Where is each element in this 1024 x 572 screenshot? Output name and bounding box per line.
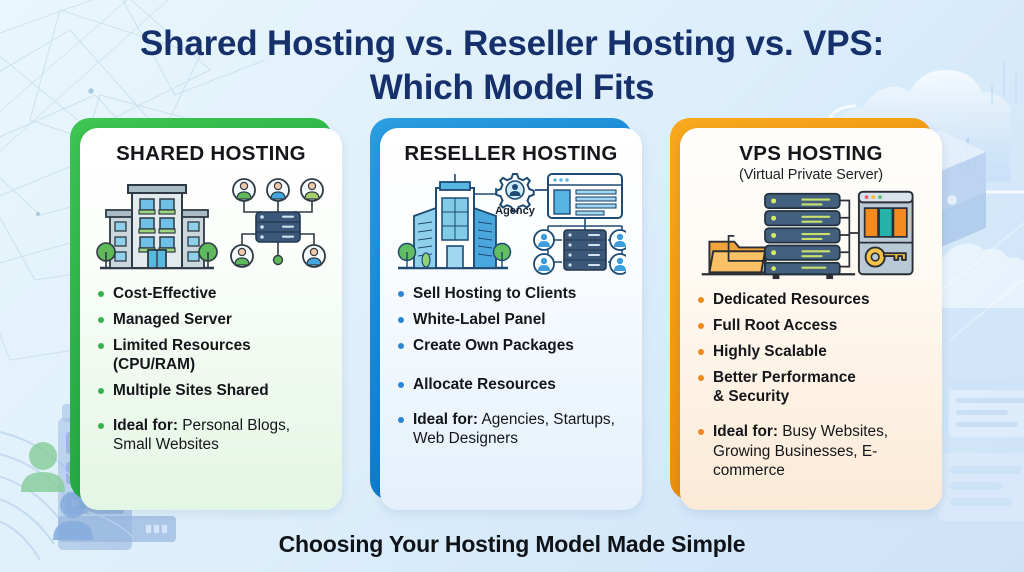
user-avatar-icon <box>267 179 289 201</box>
feature-list: Cost-Effective Managed Server Limited Re… <box>96 284 326 455</box>
office-agency-clients-illustration-icon: Agency <box>396 172 626 276</box>
feature-item-continuation: & Security <box>713 388 789 405</box>
hosting-comparison-cards: SHARED HOSTING <box>70 118 960 510</box>
ideal-for-label: Ideal for: <box>413 411 478 428</box>
client-avatar-icon <box>534 230 554 250</box>
feature-list: Dedicated Resources Full Root Access Hig… <box>696 290 926 480</box>
feature-item: Limited Resources (CPU/RAM) <box>96 336 326 374</box>
apartment-building-users-server-illustration-icon <box>96 172 326 276</box>
feature-item: Allocate Resources <box>396 375 626 394</box>
agency-label: Agency <box>495 205 536 217</box>
client-avatar-icon <box>610 254 626 274</box>
client-avatar-icon <box>610 230 626 250</box>
feature-item: Sell Hosting to Clients <box>396 284 626 303</box>
vps-server-folder-key-illustration-icon <box>696 188 916 280</box>
feature-item: Highly Scalable <box>696 342 926 361</box>
card-body: SHARED HOSTING <box>80 128 342 510</box>
ideal-for-item: Ideal for: Personal Blogs, Small Website… <box>96 416 326 454</box>
feature-item: Better Performance & Security <box>696 368 926 406</box>
title-line-2: Which Model Fits <box>0 66 1024 110</box>
feature-item: White-Label Panel <box>396 310 626 329</box>
title-line-1: Shared Hosting vs. Reseller Hosting vs. … <box>0 22 1024 66</box>
feature-item: Create Own Packages <box>396 336 626 355</box>
user-avatar-icon <box>301 179 323 201</box>
user-avatar-icon <box>233 179 255 201</box>
ideal-for-label: Ideal for: <box>113 417 178 434</box>
card-vps-hosting[interactable]: VPS HOSTING (Virtual Private Server) <box>670 118 942 510</box>
card-subtitle: (Virtual Private Server) <box>696 167 926 184</box>
card-body: VPS HOSTING (Virtual Private Server) <box>680 128 942 510</box>
footer-tagline: Choosing Your Hosting Model Made Simple <box>0 531 1024 558</box>
feature-item-text: Better Performance <box>713 369 856 386</box>
card-shared-hosting[interactable]: SHARED HOSTING <box>70 118 342 510</box>
card-title: VPS HOSTING <box>696 142 926 166</box>
card-header: SHARED HOSTING <box>96 142 326 166</box>
feature-list: Sell Hosting to Clients White-Label Pane… <box>396 284 626 449</box>
infographic-title: Shared Hosting vs. Reseller Hosting vs. … <box>0 22 1024 110</box>
card-header: RESELLER HOSTING <box>396 142 626 166</box>
feature-item: Full Root Access <box>696 316 926 335</box>
control-panel-icon <box>859 192 913 274</box>
feature-item: Multiple Sites Shared <box>96 381 326 400</box>
card-body: RESELLER HOSTING <box>380 128 642 510</box>
user-avatar-icon <box>303 245 325 267</box>
feature-item: Cost-Effective <box>96 284 326 303</box>
user-avatar-icon <box>231 245 253 267</box>
card-header: VPS HOSTING (Virtual Private Server) <box>696 142 926 184</box>
client-avatar-icon <box>534 254 554 274</box>
ideal-for-item: Ideal for: Agencies, Startups, Web Desig… <box>396 410 626 448</box>
feature-item: Managed Server <box>96 310 326 329</box>
feature-item-continuation: (CPU/RAM) <box>113 356 195 373</box>
folder-icon <box>709 242 765 273</box>
ideal-for-label: Ideal for: <box>713 423 778 440</box>
feature-item: Dedicated Resources <box>696 290 926 309</box>
card-reseller-hosting[interactable]: RESELLER HOSTING <box>370 118 642 510</box>
card-title: RESELLER HOSTING <box>396 142 626 166</box>
server-rack-icon <box>765 194 840 279</box>
card-title: SHARED HOSTING <box>96 142 326 166</box>
ideal-for-item: Ideal for: Busy Websites, Growing Busine… <box>696 422 926 479</box>
feature-item-text: Limited Resources <box>113 337 251 354</box>
